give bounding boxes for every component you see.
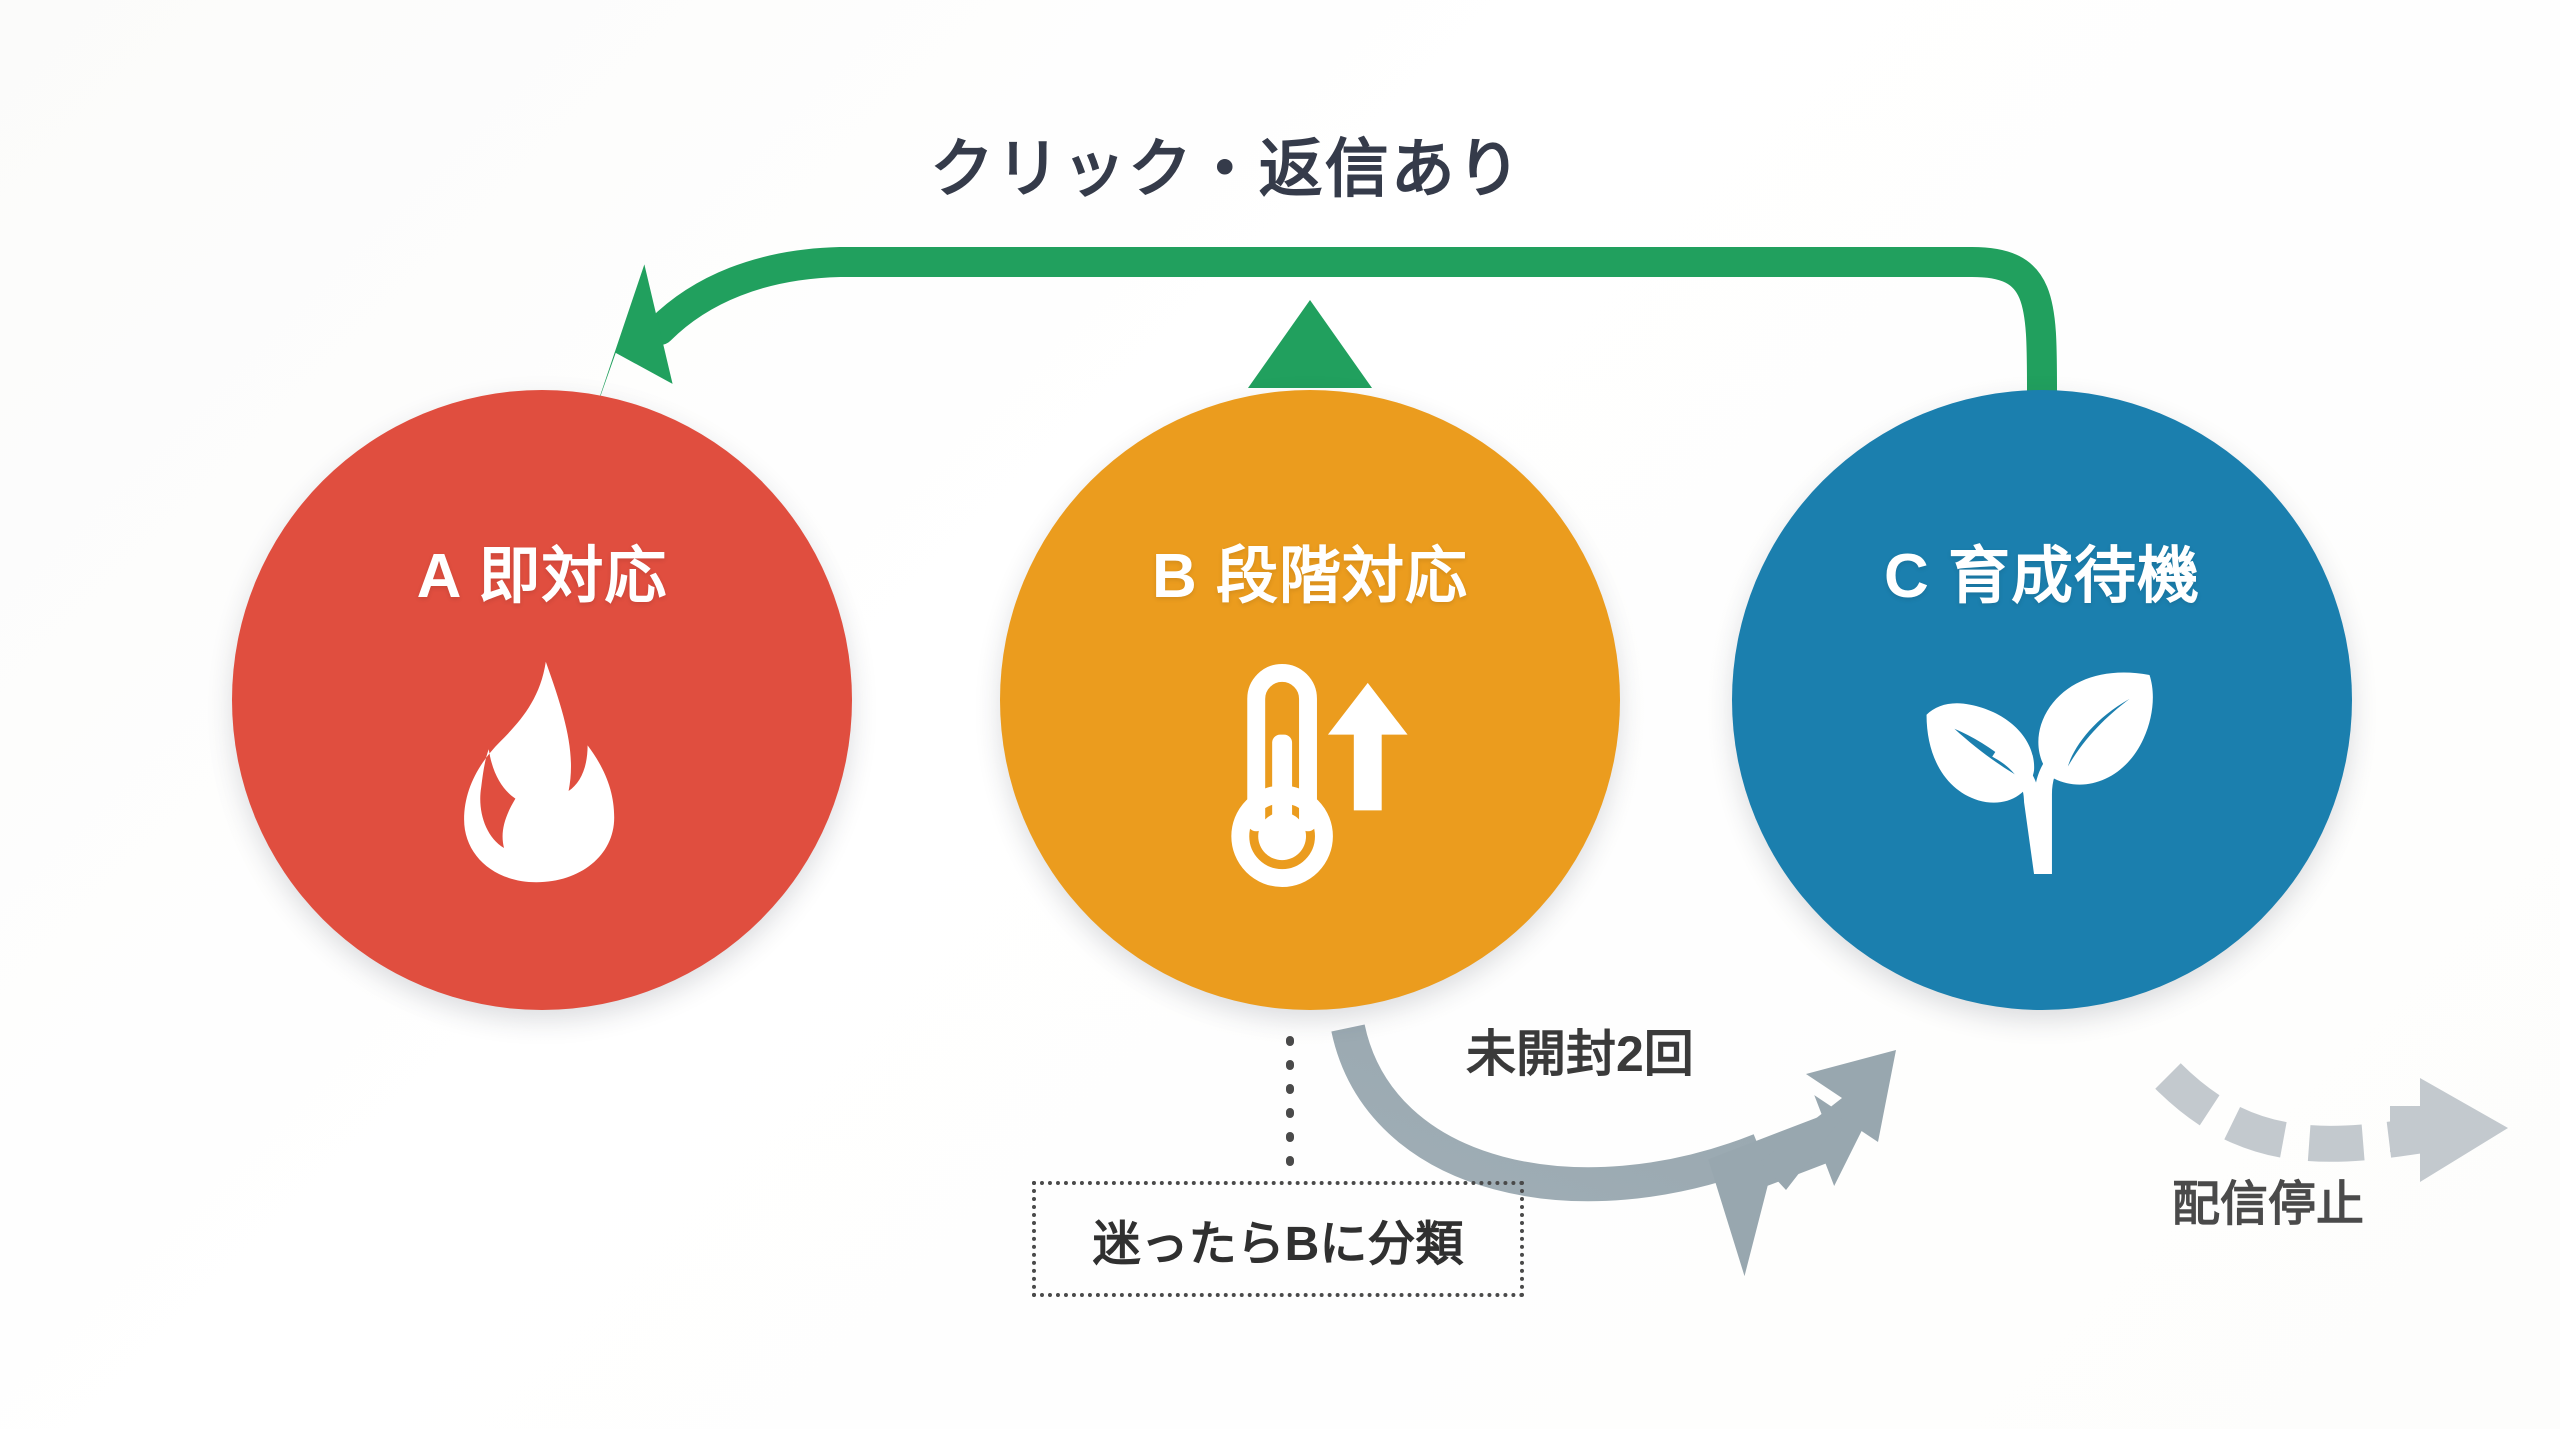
annotation-box-fallback: 迷ったらBに分類 (1032, 1181, 1524, 1297)
sprout-icon (1922, 663, 2162, 883)
diagram-canvas: クリック・返信あり A 即対応 B 段階対応 (0, 0, 2560, 1429)
flame-icon (447, 657, 637, 892)
connector-label-unsubscribe: 配信停止 (2172, 1164, 2364, 1234)
node-c-nurture-standby[interactable]: C 育成待機 (1732, 390, 2352, 1010)
connector-label-click-reply: クリック・返信あり (930, 118, 1523, 210)
node-a-label: A 即対応 (417, 525, 668, 615)
node-a-immediate-response[interactable]: A 即対応 (232, 390, 852, 1010)
node-b-staged-response[interactable]: B 段階対応 (1000, 390, 1620, 1010)
connector-unsubscribe-arrowhead (2390, 1078, 2508, 1182)
connector-label-unopened: 未開封2回 (1466, 1014, 1694, 1086)
node-c-label: C 育成待機 (1884, 525, 2200, 615)
annotation-box-fallback-label: 迷ったらBに分類 (1093, 1204, 1464, 1274)
node-b-label: B 段階対応 (1152, 525, 1468, 615)
b-inbound-triangle-marker (1248, 300, 1372, 388)
thermometer-up-icon (1200, 655, 1420, 895)
